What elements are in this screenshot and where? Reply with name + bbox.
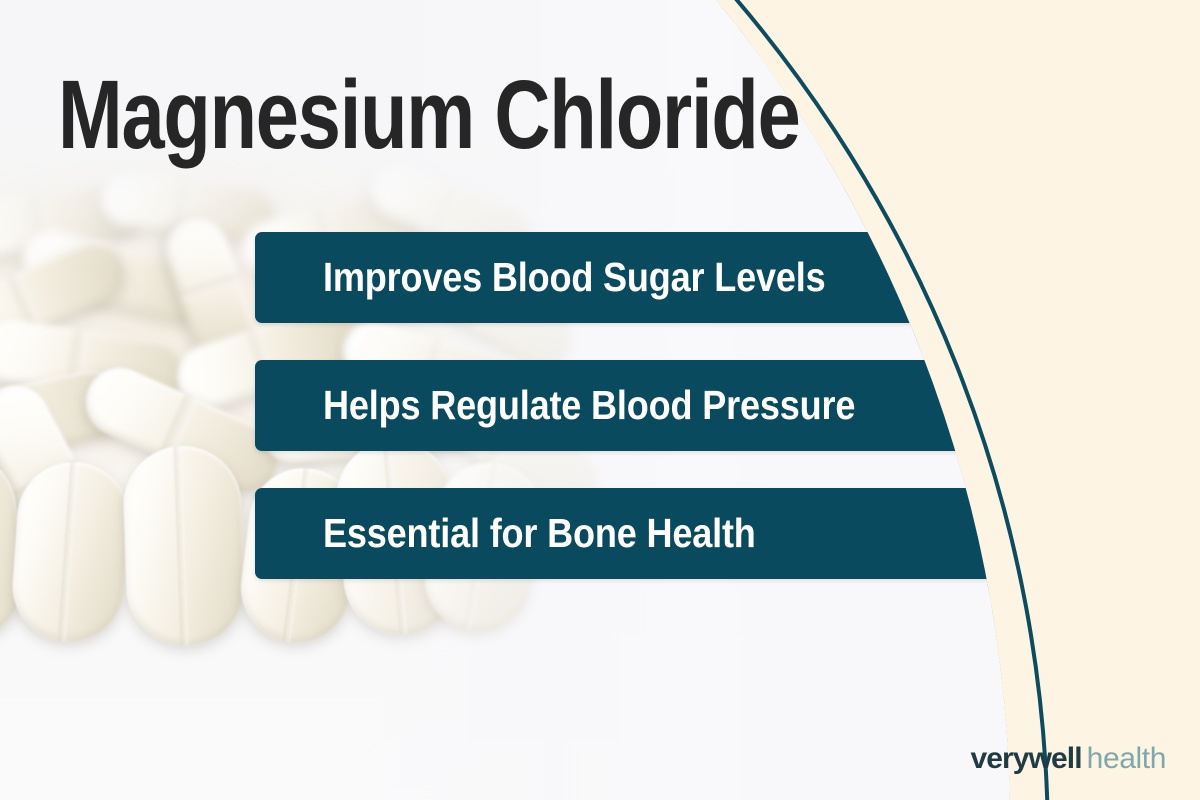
page-title: Magnesium Chloride	[58, 66, 858, 163]
verywell-health-logo[interactable]: verywell health	[970, 742, 1166, 776]
benefit-bar-2[interactable]: Helps Regulate Blood Pressure	[255, 360, 1010, 451]
logo-primary-text: verywell	[970, 742, 1081, 776]
benefit-bar-3[interactable]: Essential for Bone Health	[255, 488, 1010, 579]
infographic-canvas: Magnesium Chloride Improves Blood Sugar …	[0, 0, 1200, 800]
logo-secondary-text: health	[1087, 742, 1166, 776]
benefit-label-1: Improves Blood Sugar Levels	[323, 257, 826, 298]
benefit-bar-1[interactable]: Improves Blood Sugar Levels	[255, 232, 1010, 323]
benefit-label-2: Helps Regulate Blood Pressure	[323, 385, 855, 426]
benefit-label-3: Essential for Bone Health	[323, 513, 756, 554]
